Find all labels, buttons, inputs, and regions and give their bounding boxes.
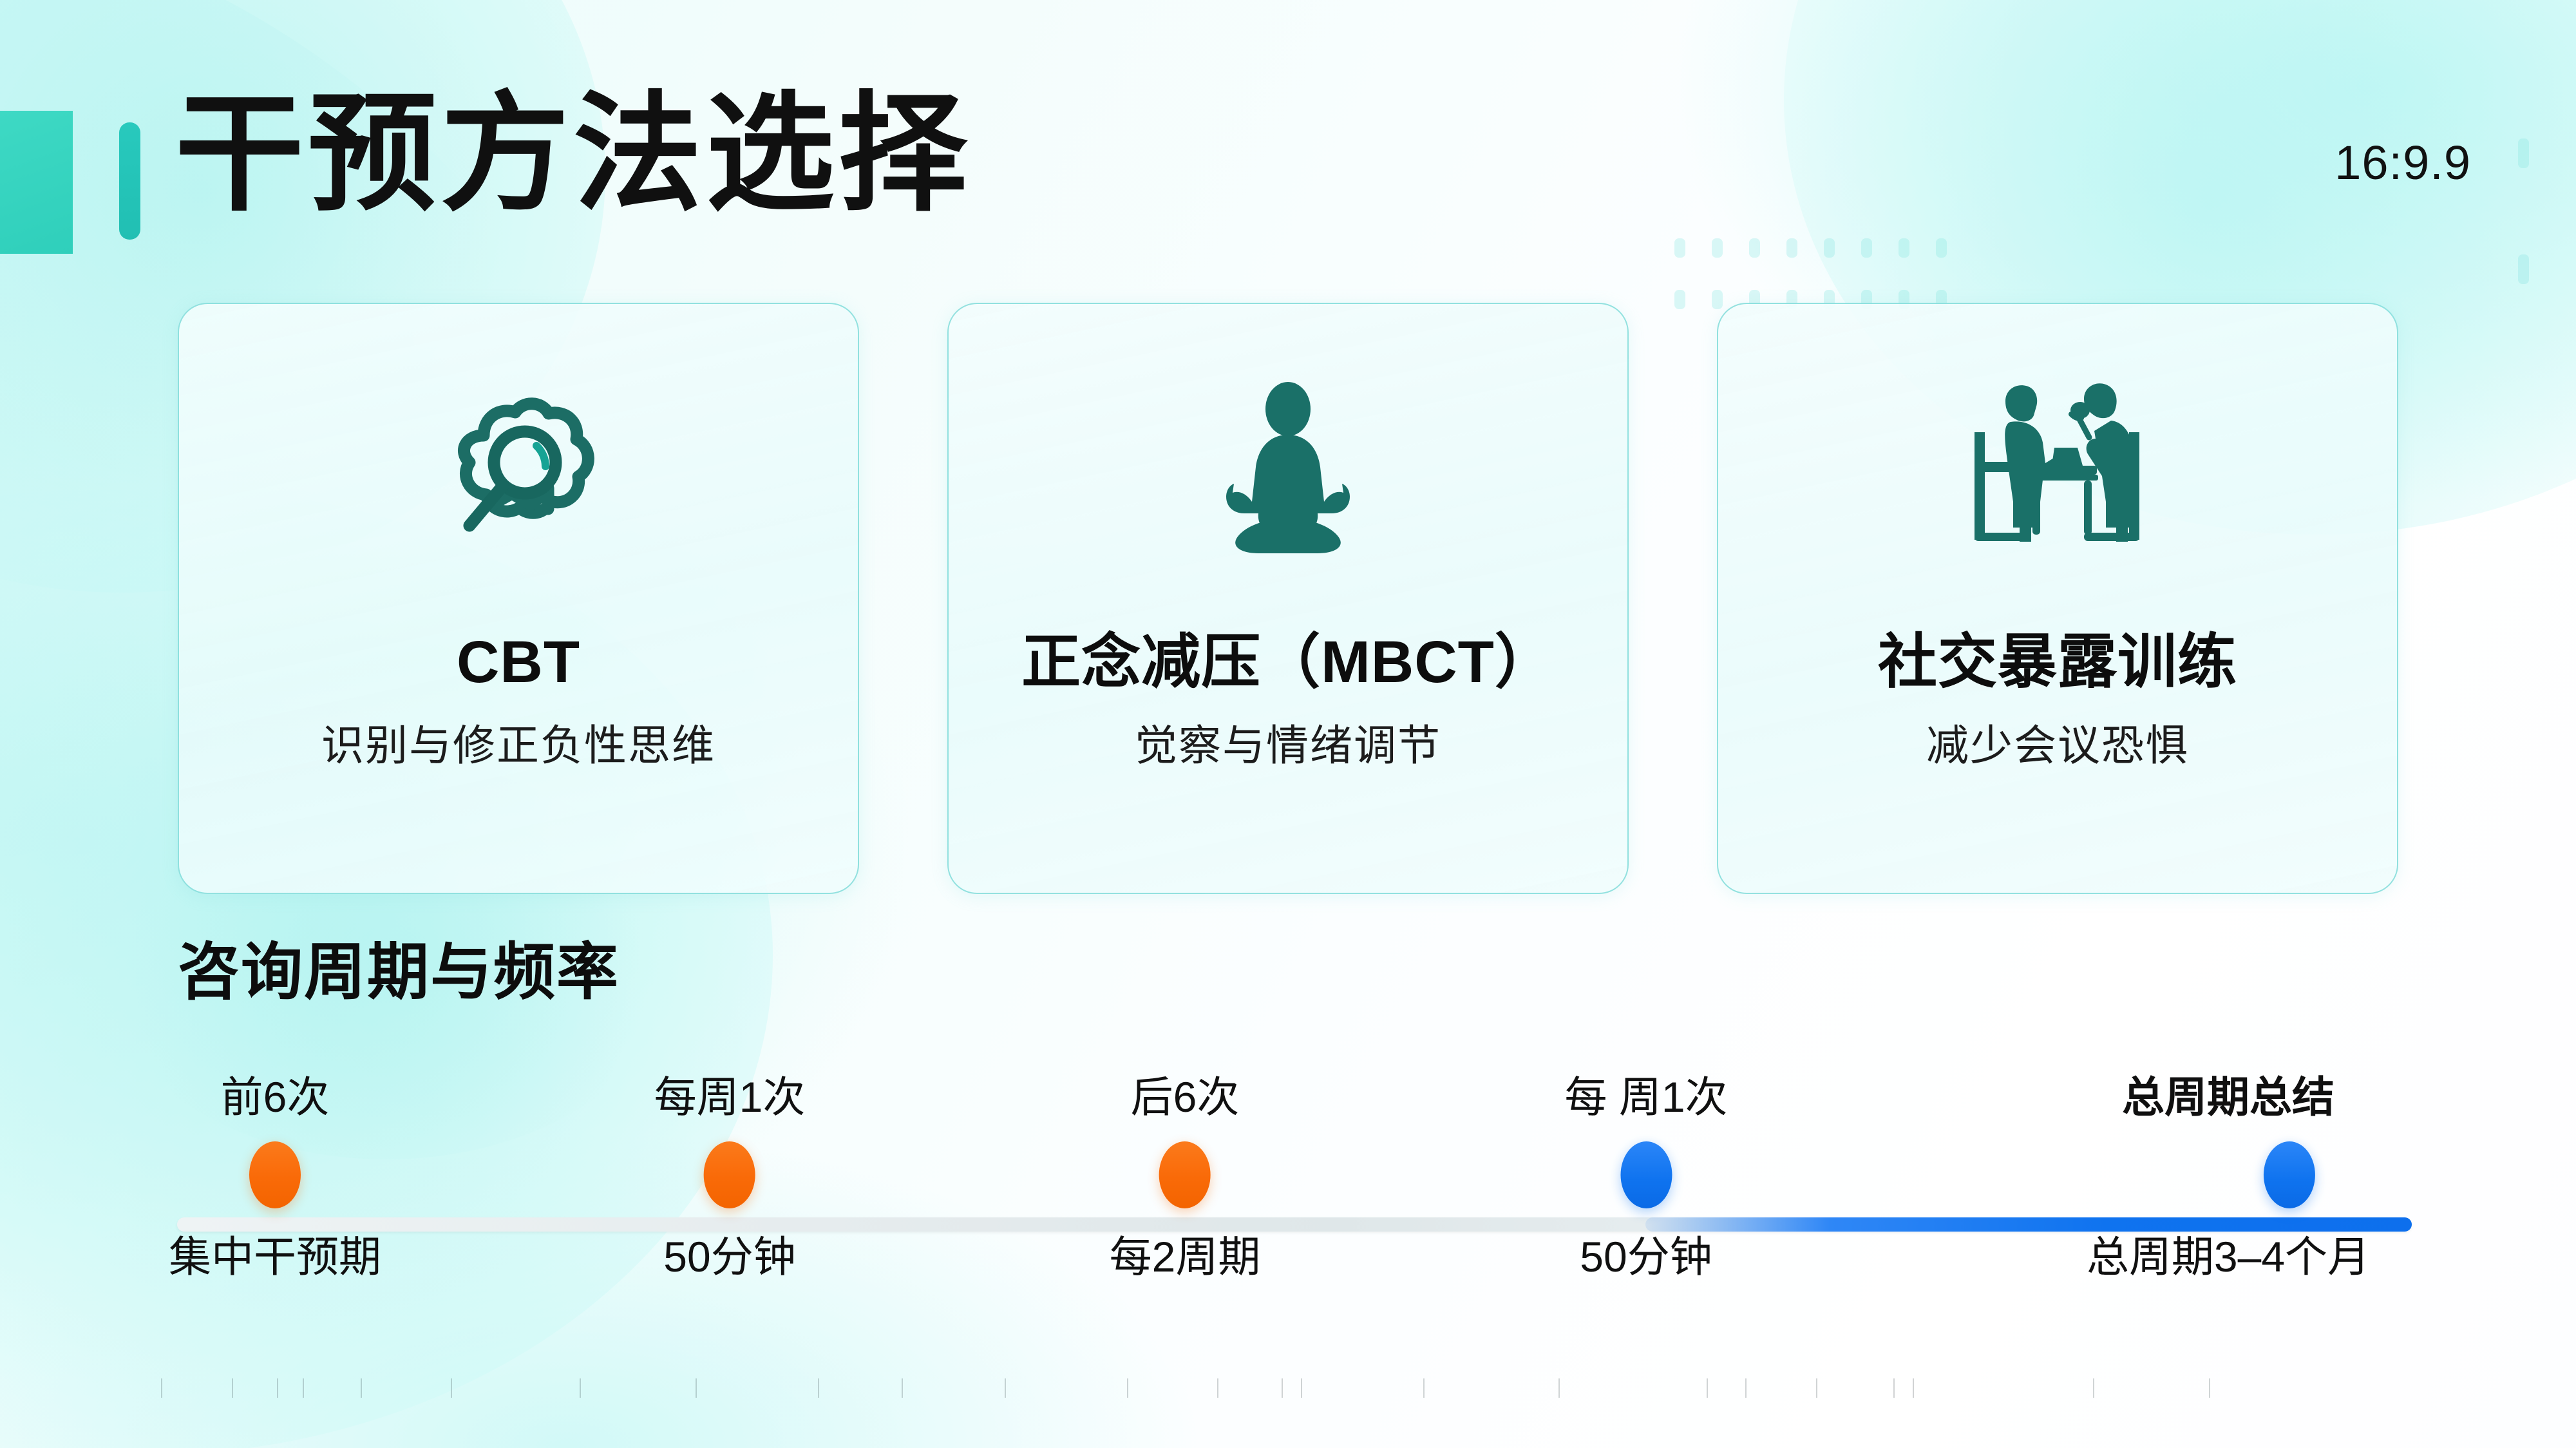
method-card-title: CBT [457, 633, 580, 692]
method-card-cbt[interactable]: CBT 识别与修正负性思维 [178, 303, 859, 894]
timeline-node[interactable]: 每周1次 50分钟 [654, 1076, 806, 1278]
timeline-node-top-label: 每周1次 [654, 1076, 806, 1118]
timeline-node-bottom-label: 总周期3–4个月 [2087, 1235, 2370, 1278]
timeline-heading: 咨询周期与频率 [178, 942, 620, 1004]
method-card-subtitle: 减少会议恐惧 [1926, 724, 2189, 767]
timeline-node[interactable]: 每 周1次 50分钟 [1564, 1076, 1727, 1278]
slide-canvas: 干预方法选择 16:9.9 CBT 识别与修正负性思维 [0, 0, 2576, 1448]
timeline-node-bottom-label: 每2周期 [1110, 1235, 1261, 1278]
page-title: 干预方法选择 [175, 90, 971, 219]
method-card-social-exposure[interactable]: 社交暴露训练 减少会议恐惧 [1717, 303, 2398, 894]
timeline-node-summary[interactable]: 总周期总结 总周期3–4个月 [2087, 1076, 2370, 1278]
slide-header: 干预方法选择 16:9.9 [0, 0, 2576, 277]
timeline-node-dot[interactable] [1159, 1141, 1211, 1208]
title-accent-bar [119, 122, 140, 240]
timeline-node[interactable]: 前6次 集中干预期 [169, 1076, 381, 1278]
two-people-table-icon [1951, 366, 2164, 578]
method-card-title: 正念减压（MBCT） [1021, 633, 1555, 692]
brain-magnifier-icon [422, 366, 615, 578]
method-card-subtitle: 识别与修正负性思维 [321, 724, 715, 767]
timeline-node-dot[interactable] [2264, 1141, 2315, 1208]
timeline-node-bottom-label: 集中干预期 [169, 1235, 381, 1278]
timeline-node-bottom-label: 50分钟 [1564, 1235, 1727, 1278]
timeline-node-dot[interactable] [249, 1141, 301, 1208]
timeline-node-bottom-label: 50分钟 [654, 1235, 806, 1278]
timeline-node-dot[interactable] [1620, 1141, 1672, 1208]
timeline-node-top-label: 总周期总结 [2087, 1076, 2370, 1118]
method-card-mbct[interactable]: 正念减压（MBCT） 觉察与情绪调节 [947, 303, 1629, 894]
method-card-subtitle: 觉察与情绪调节 [1135, 724, 1441, 767]
bottom-tick-band [0, 1378, 2576, 1400]
timeline-node-dot[interactable] [704, 1141, 755, 1208]
title-accent-block [0, 111, 73, 254]
method-cards-row: CBT 识别与修正负性思维 正念减压（MBCT） 觉察与情绪调节 [178, 303, 2398, 895]
timeline: 前6次 集中干预期 每周1次 50分钟 后6次 每2周期 每 周1次 50分钟 … [0, 1076, 2576, 1346]
method-card-title: 社交暴露训练 [1878, 633, 2237, 692]
timeline-node-top-label: 后6次 [1110, 1076, 1261, 1118]
timeline-node-top-label: 前6次 [169, 1076, 381, 1118]
aspect-ratio-tag: 16:9.9 [2334, 135, 2471, 190]
timeline-node[interactable]: 后6次 每2周期 [1110, 1076, 1261, 1278]
timeline-node-top-label: 每 周1次 [1564, 1076, 1727, 1118]
meditation-lotus-icon [1191, 366, 1385, 578]
